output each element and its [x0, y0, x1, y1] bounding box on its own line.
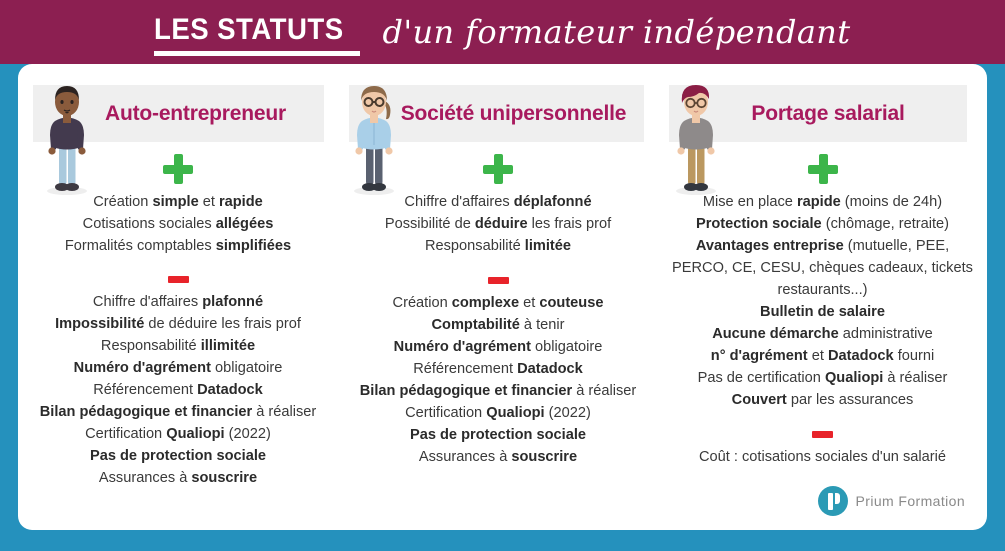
infographic-root: LES STATUTS d'un formateur indépendant A… [0, 0, 1005, 551]
list-item: Responsabilité illimitée [24, 335, 332, 357]
minus-sign-icon [488, 277, 509, 284]
list-item: Aucune démarche administrative [668, 323, 977, 345]
cons-sign-row-2 [338, 277, 658, 284]
list-item: Création complexe et couteuse [344, 292, 652, 314]
column-header-2: Société unipersonnelle [338, 85, 658, 142]
pros-list-3: Mise en place rapide (moins de 24h)Prote… [658, 191, 987, 411]
list-item: Assurances à souscrire [24, 467, 332, 489]
list-item: Assurances à souscrire [344, 446, 652, 468]
column-auto-entrepreneur: Auto-entrepreneur [18, 64, 338, 530]
cons-block-2: Création complexe et couteuseComptabilit… [338, 277, 658, 468]
column-portage-salarial: Portage salarial [658, 64, 987, 530]
minus-sign-icon [168, 276, 189, 283]
prium-circle-p-icon [818, 486, 848, 516]
page-subtitle: d'un formateur indépendant [382, 8, 850, 54]
title-underline-rule [154, 51, 360, 56]
list-item: Pas de protection sociale [24, 445, 332, 467]
person-female-red-hair-glasses-icon [670, 81, 722, 196]
content-card: Auto-entrepreneur [18, 64, 987, 530]
list-item: Certification Qualiopi (2022) [344, 402, 652, 424]
list-item: Couvert par les assurances [668, 389, 977, 411]
header-inner: LES STATUTS d'un formateur indépendant [154, 8, 850, 56]
plus-sign-icon [163, 154, 193, 184]
title-block: LES STATUTS [154, 8, 360, 56]
list-item: Numéro d'agrément obligatoire [24, 357, 332, 379]
list-item: Cotisations sociales allégées [24, 213, 332, 235]
cons-sign-row-3 [658, 431, 987, 438]
column-societe-unipersonnelle: Société unipersonnelle [338, 64, 658, 530]
cons-list-1: Chiffre d'affaires plafonnéImpossibilité… [18, 291, 338, 489]
list-item: Numéro d'agrément obligatoire [344, 336, 652, 358]
cons-list-3: Coût : cotisations sociales d'un salarié [658, 446, 987, 468]
list-item: Protection sociale (chômage, retraite) [668, 213, 977, 235]
list-item: Certification Qualiopi (2022) [24, 423, 332, 445]
cons-block-3: Coût : cotisations sociales d'un salarié [658, 431, 987, 468]
cons-list-2: Création complexe et couteuseComptabilit… [338, 292, 658, 468]
list-item: Responsabilité limitée [344, 235, 652, 257]
pros-list-2: Chiffre d'affaires déplafonnéPossibilité… [338, 191, 658, 257]
page-title: LES STATUTS [154, 14, 344, 46]
list-item: Coût : cotisations sociales d'un salarié [668, 446, 977, 468]
minus-sign-icon [812, 431, 833, 438]
list-item: Chiffre d'affaires plafonné [24, 291, 332, 313]
list-item: Bulletin de salaire [668, 301, 977, 323]
list-item: Formalités comptables simplifiées [24, 235, 332, 257]
logo-bowl [835, 493, 840, 504]
list-item: Impossibilité de déduire les frais prof [24, 313, 332, 335]
cons-block-1: Chiffre d'affaires plafonnéImpossibilité… [18, 276, 338, 489]
plus-sign-icon [483, 154, 513, 184]
list-item: Pas de certification Qualiopi à réaliser [668, 367, 977, 389]
column-header-3: Portage salarial [658, 85, 987, 142]
pros-list-1: Création simple et rapideCotisations soc… [18, 191, 338, 257]
logo-stem [828, 493, 833, 510]
list-item: Référencement Datadock [344, 358, 652, 380]
cons-sign-row-1 [18, 276, 338, 283]
list-item: Bilan pédagogique et financier à réalise… [24, 401, 332, 423]
list-item: n° d'agrément et Datadock fourni [668, 345, 977, 367]
list-item: Pas de protection sociale [344, 424, 652, 446]
list-item: Possibilité de déduire les frais prof [344, 213, 652, 235]
plus-sign-icon [808, 154, 838, 184]
person-female-glasses-ponytail-icon [348, 81, 400, 196]
columns-container: Auto-entrepreneur [18, 64, 987, 530]
person-male-dark-shirt-icon [41, 81, 93, 196]
header-banner: LES STATUTS d'un formateur indépendant [0, 0, 1005, 64]
list-item: Bilan pédagogique et financier à réalise… [344, 380, 652, 402]
list-item: Avantages entreprise (mutuelle, PEE, PER… [668, 235, 977, 301]
list-item: Comptabilité à tenir [344, 314, 652, 336]
list-item: Référencement Datadock [24, 379, 332, 401]
brand-logo: Prium Formation [818, 486, 965, 516]
brand-name: Prium Formation [856, 493, 965, 509]
column-header-1: Auto-entrepreneur [18, 85, 338, 142]
